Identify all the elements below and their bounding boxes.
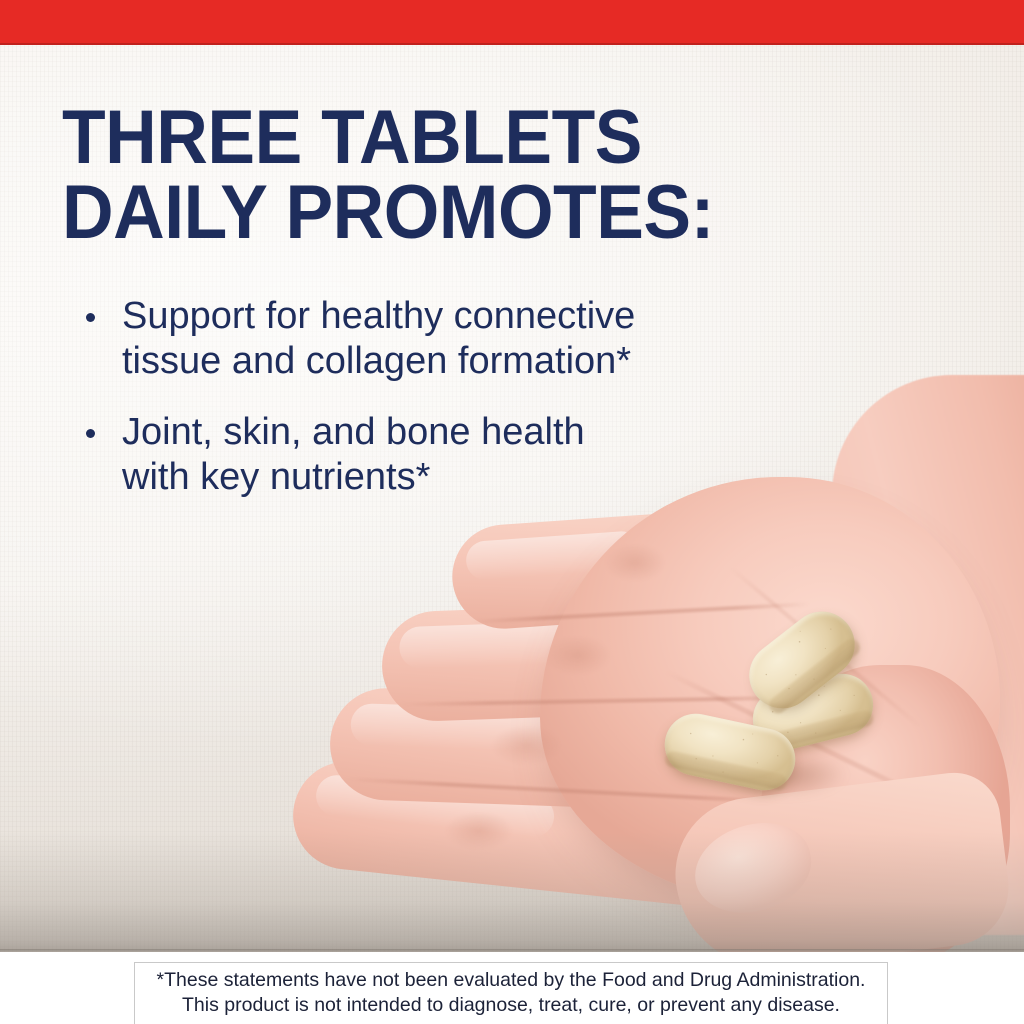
benefit-line-1: Support for healthy connective	[122, 295, 635, 337]
bullet-dot-icon	[86, 429, 95, 438]
photo-floor-shadow	[0, 832, 1024, 952]
disclaimer-line-1: *These statements have not been evaluate…	[145, 968, 877, 993]
benefit-line-2: tissue and collagen formation*	[122, 340, 631, 382]
benefit-item: Support for healthy connective tissue an…	[62, 294, 702, 384]
photo-bottom-edge	[0, 949, 1024, 952]
benefit-item: Joint, skin, and bone health with key nu…	[62, 410, 702, 500]
page-title: THREE TABLETS DAILY PROMOTES:	[62, 100, 805, 250]
fda-disclaimer: *These statements have not been evaluate…	[134, 962, 888, 1024]
benefit-line-1: Joint, skin, and bone health	[122, 411, 585, 453]
knuckle	[540, 637, 616, 683]
knuckle	[600, 545, 670, 589]
bullet-dot-icon	[86, 313, 95, 322]
product-benefits-panel: THREE TABLETS DAILY PROMOTES: Support fo…	[0, 0, 1024, 1024]
benefits-list: Support for healthy connective tissue an…	[62, 294, 852, 499]
brand-accent-bar	[0, 0, 1024, 45]
benefit-line-2: with key nutrients*	[122, 456, 430, 498]
copy-block: THREE TABLETS DAILY PROMOTES: Support fo…	[62, 100, 852, 526]
knuckle	[486, 727, 566, 773]
headline-line-2: DAILY PROMOTES:	[62, 175, 805, 250]
headline-line-1: THREE TABLETS	[62, 100, 805, 175]
disclaimer-line-2: This product is not intended to diagnose…	[145, 993, 877, 1018]
